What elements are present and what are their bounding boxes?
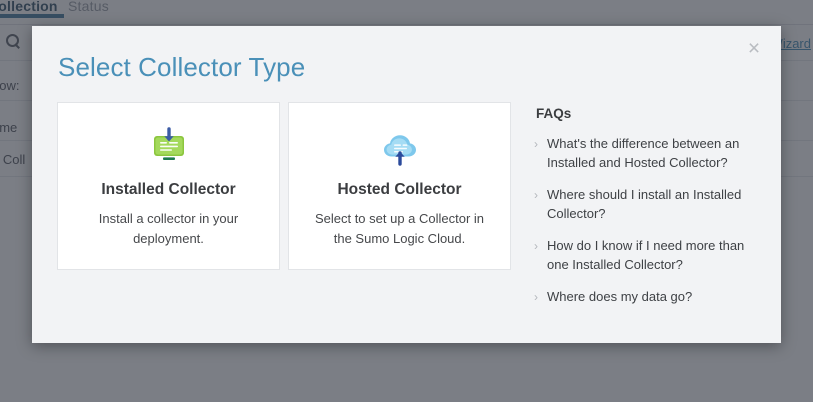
chevron-right-icon: › [534,186,538,205]
hosted-collector-description: Select to set up a Collector in the Sumo… [313,209,486,249]
chevron-right-icon: › [534,135,538,154]
faqs-section: FAQs › What's the difference between an … [533,106,763,321]
faqs-heading: FAQs [536,106,763,121]
select-collector-type-dialog: × Select Collector Type Installed Collec… [32,26,781,343]
installed-collector-description: Install a collector in your deployment. [82,209,255,249]
dialog-title: Select Collector Type [58,52,305,83]
faq-item[interactable]: › Where should I install an Installed Co… [533,186,763,223]
faq-item-label: Where does my data go? [547,289,692,304]
faq-item[interactable]: › What's the difference between an Insta… [533,135,763,172]
installed-collector-title: Installed Collector [58,181,279,199]
faq-item[interactable]: › Where does my data go? [533,288,763,307]
faq-item-label: What's the difference between an Install… [547,136,739,170]
hosted-collector-title: Hosted Collector [289,181,510,199]
faq-item-label: How do I know if I need more than one In… [547,238,744,272]
faq-item[interactable]: › How do I know if I need more than one … [533,237,763,274]
chevron-right-icon: › [534,237,538,256]
chevron-right-icon: › [534,288,538,307]
installed-collector-card[interactable]: Installed Collector Install a collector … [57,102,280,270]
cloud-upload-icon [289,125,510,171]
hosted-collector-card[interactable]: Hosted Collector Select to set up a Coll… [288,102,511,270]
collector-type-cards: Installed Collector Install a collector … [57,102,511,270]
close-icon[interactable]: × [741,36,767,62]
monitor-download-icon [58,125,279,171]
faq-item-label: Where should I install an Installed Coll… [547,187,741,221]
